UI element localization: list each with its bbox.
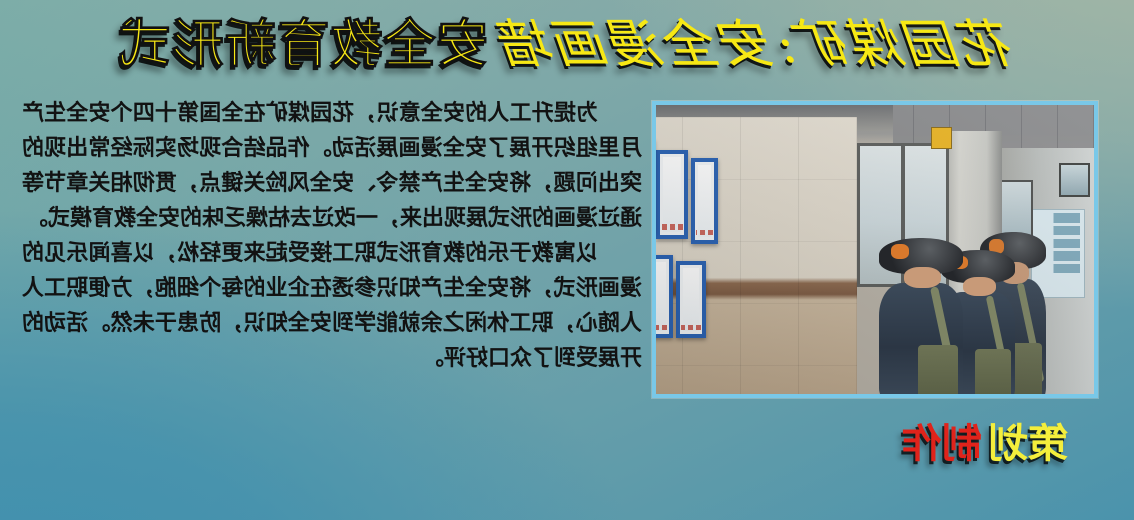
article-paragraph: 以寓教于乐的教育形式职工接受起来更轻松，以喜闻乐见的漫画形式，将安全生产知识参透… (22, 236, 642, 376)
poster-canvas: 花园煤矿:安全漫画墙 安全教育新形式 (0, 0, 1134, 520)
mirrored-composition: 花园煤矿:安全漫画墙 安全教育新形式 (0, 0, 1134, 520)
page-title: 花园煤矿:安全漫画墙 安全教育新形式 (0, 6, 1134, 84)
miner-figure (879, 238, 962, 398)
credit-label-planning: 策划 (988, 424, 1068, 464)
article-body: 为提升工人的安全意识，花园煤矿在全国第十四个安全生产月里组织开展了安全漫画展活动… (22, 96, 642, 376)
safety-comic-poster (652, 255, 673, 338)
credit-label-production: 制作 (902, 424, 982, 464)
far-window (1059, 163, 1090, 198)
photo-image (656, 105, 1094, 394)
title-main-text: 花园煤矿:安全漫画墙 (498, 19, 1019, 71)
safety-comic-poster (676, 261, 706, 339)
title-sub-text: 安全教育新形式 (118, 19, 489, 71)
photo-frame (652, 101, 1098, 398)
safety-comic-poster (652, 139, 655, 233)
credit-line: 策划 制作 (902, 424, 1068, 464)
safety-comic-poster (691, 158, 718, 244)
poster-wall (656, 117, 857, 394)
wall-device-box (931, 127, 951, 149)
article-paragraph: 为提升工人的安全意识，花园煤矿在全国第十四个安全生产月里组织开展了安全漫画展活动… (22, 96, 642, 236)
safety-comic-poster (656, 150, 688, 239)
